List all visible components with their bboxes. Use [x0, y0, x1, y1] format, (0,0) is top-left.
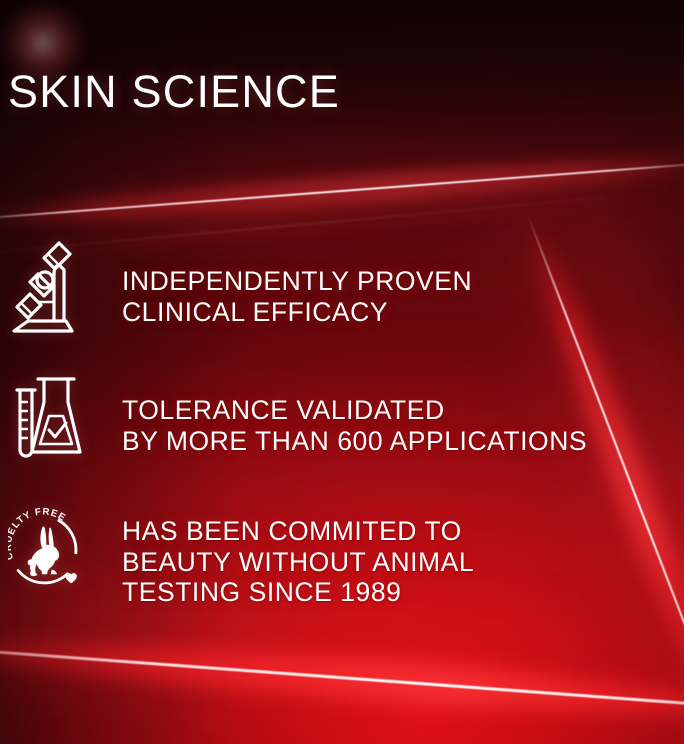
content-layer: SKIN SCIENCE: [0, 0, 684, 744]
feature-line: BEAUTY WITHOUT ANIMAL: [122, 547, 674, 578]
feature-line: TOLERANCE VALIDATED: [122, 395, 674, 426]
feature-item-clinical-efficacy: INDEPENDENTLY PROVEN CLINICAL EFFICACY: [8, 236, 674, 336]
feature-line: TESTING SINCE 1989: [122, 577, 674, 608]
feature-item-cruelty-free: CRUELTY FREE: [8, 502, 674, 608]
flask-test-tube-icon: [8, 372, 86, 468]
feature-line: BY MORE THAN 600 APPLICATIONS: [122, 426, 674, 457]
feature-line: INDEPENDENTLY PROVEN: [122, 266, 674, 297]
feature-line: CLINICAL EFFICACY: [122, 297, 674, 328]
microscope-icon: [8, 236, 86, 336]
feature-text: TOLERANCE VALIDATED BY MORE THAN 600 APP…: [86, 372, 674, 456]
cruelty-free-icon: CRUELTY FREE: [8, 502, 86, 600]
feature-line: HAS BEEN COMMITED TO: [122, 516, 674, 547]
feature-item-tolerance-validated: TOLERANCE VALIDATED BY MORE THAN 600 APP…: [8, 372, 674, 468]
rabbit-silhouette: [28, 526, 59, 576]
heart-icon: [65, 573, 76, 583]
page-title: SKIN SCIENCE: [8, 66, 340, 118]
feature-text: HAS BEEN COMMITED TO BEAUTY WITHOUT ANIM…: [86, 502, 674, 608]
feature-text: INDEPENDENTLY PROVEN CLINICAL EFFICACY: [86, 236, 674, 327]
skin-science-banner: SKIN SCIENCE: [0, 0, 684, 744]
